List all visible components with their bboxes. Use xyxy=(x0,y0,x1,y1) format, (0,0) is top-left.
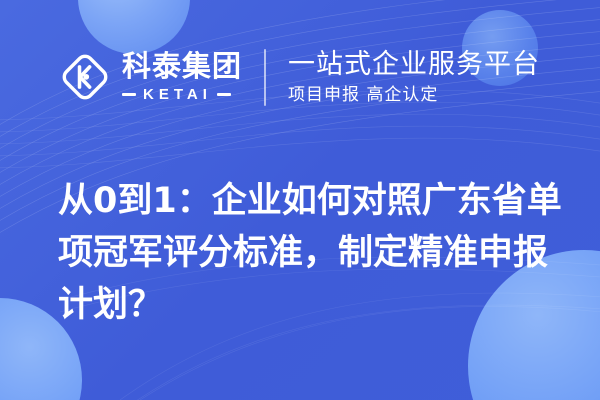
brand-text: 科泰集团 KETAI xyxy=(122,52,242,103)
brand-rule-left xyxy=(122,93,136,96)
brand-lockup: 科泰集团 KETAI xyxy=(58,50,242,104)
brand-name-en-row: KETAI xyxy=(122,86,242,103)
brand-rule-right xyxy=(217,93,231,96)
slogan-main: 一站式企业服务平台 xyxy=(288,50,540,79)
slogan-sub: 项目申报 高企认定 xyxy=(288,86,540,105)
brand-name-cn: 科泰集团 xyxy=(122,52,242,81)
brand-name-en: KETAI xyxy=(143,86,212,103)
page-title: 从0到1：企业如何对照广东省单项冠军评分标准，制定精准申报计划？ xyxy=(58,175,562,331)
promo-banner: 科泰集团 KETAI 一站式企业服务平台 项目申报 高企认定 从0到1：企业如何… xyxy=(0,0,600,400)
ketai-diamond-monogram-logo-icon xyxy=(58,50,112,104)
header-divider xyxy=(264,49,266,106)
slogan-block: 一站式企业服务平台 项目申报 高企认定 xyxy=(288,50,540,105)
banner-header: 科泰集团 KETAI 一站式企业服务平台 项目申报 高企认定 xyxy=(0,38,600,116)
